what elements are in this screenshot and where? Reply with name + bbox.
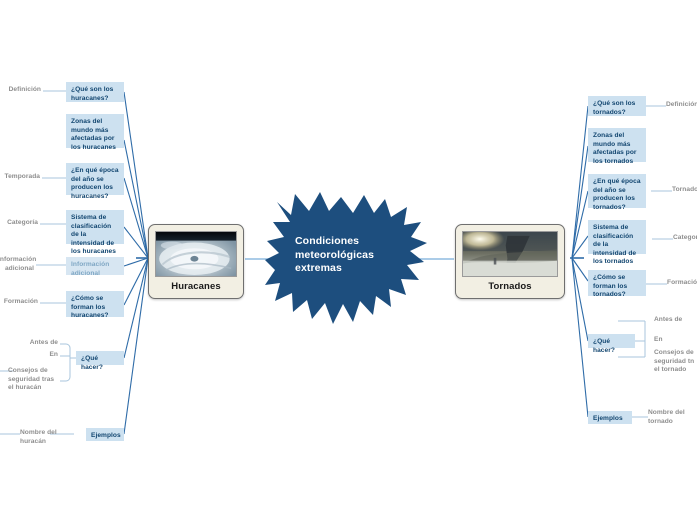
leaf-tornado-en[interactable]: En (654, 336, 697, 345)
topic-hurricane-zones[interactable]: Zonas del mundo más afectadas por los hu… (66, 114, 124, 148)
leaf-hurricane-nombre[interactable]: Nombre del huracán (20, 429, 66, 446)
leaf-tornado-formacion[interactable]: Formación (667, 279, 697, 288)
topic-hurricane-what-to-do[interactable]: ¿Qué hacer? (76, 351, 124, 365)
topic-tornado-zones[interactable]: Zonas del mundo más afectadas por los to… (588, 128, 646, 162)
topic-hurricane-examples[interactable]: Ejemplos (86, 428, 124, 441)
leaf-hurricane-definicion[interactable]: Definición (0, 86, 41, 95)
leaf-hurricane-informacion-adicional[interactable]: Información adicional (0, 256, 34, 273)
leaf-hurricane-categoria[interactable]: Categoría (0, 219, 38, 228)
leaf-tornado-antes-de[interactable]: Antes de (654, 316, 697, 325)
leaf-tornado-nombre[interactable]: Nombre del tornado (648, 409, 696, 426)
leaf-tornado-consejos-seguridad[interactable]: Consejos de seguridad tn el tornado (654, 349, 697, 375)
topic-hurricane-formation[interactable]: ¿Cómo se forman los huracanes? (66, 291, 124, 317)
topic-hurricane-category[interactable]: Sistema de clasificación de la intensida… (66, 210, 124, 244)
topic-tornado-formation[interactable]: ¿Cómo se forman los tornados? (588, 270, 646, 296)
leaf-tornado-tornado[interactable]: Tornado (672, 186, 697, 195)
leaf-hurricane-consejos-seguridad[interactable]: Consejos de seguridad tras el huracán (8, 367, 60, 393)
hurricanes-image-card[interactable]: Huracanes (148, 224, 244, 299)
topic-tornado-season[interactable]: ¿En qué época del año se producen los to… (588, 174, 646, 208)
topic-tornado-examples[interactable]: Ejemplos (588, 411, 632, 424)
topic-tornado-what-to-do[interactable]: ¿Qué hacer? (588, 334, 635, 348)
tornadoes-image-card[interactable]: Tornados (455, 224, 565, 299)
tornado-funnel-photo (462, 231, 558, 277)
topic-tornado-category[interactable]: Sistema de clasificación de la intensida… (588, 220, 646, 254)
topic-hurricane-additional-info[interactable]: Información adicional (66, 257, 124, 275)
center-node-title: Condiciones meteorológicas extremas (295, 235, 415, 276)
topic-tornado-definition[interactable]: ¿Qué son los tornados? (588, 96, 646, 116)
leaf-tornado-categoria[interactable]: Categoría (673, 234, 697, 243)
hurricanes-card-caption: Huracanes (155, 277, 237, 295)
leaf-hurricane-en[interactable]: En (0, 351, 58, 360)
tornadoes-card-caption: Tornados (462, 277, 558, 295)
mindmap-canvas: Condiciones meteorológicas extremas (0, 0, 697, 520)
topic-hurricane-season[interactable]: ¿En qué época del año se producen los hu… (66, 163, 124, 195)
leaf-tornado-definicion[interactable]: Definición (666, 101, 697, 110)
leaf-hurricane-temporada[interactable]: Temporada (0, 173, 40, 182)
leaf-hurricane-formacion[interactable]: Formación (0, 298, 38, 307)
leaf-hurricane-antes-de[interactable]: Antes de (0, 339, 58, 348)
hurricane-satellite-photo (155, 231, 237, 277)
topic-hurricane-definition[interactable]: ¿Qué son los huracanes? (66, 82, 124, 102)
